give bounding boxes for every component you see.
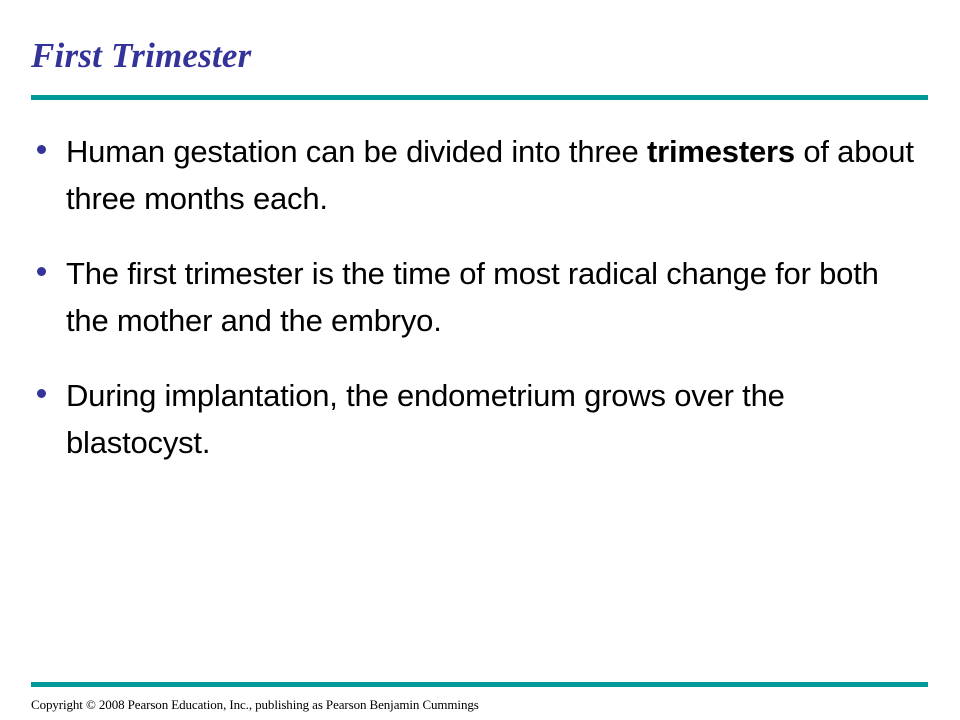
round-bullet-icon — [37, 145, 46, 154]
list-item: During implantation, the endometrium gro… — [31, 372, 926, 466]
list-item-text: The first trimester is the time of most … — [66, 250, 926, 344]
slide-canvas: First Trimester Human gestation can be d… — [0, 0, 960, 720]
list-item-text: Human gestation can be divided into thre… — [66, 128, 926, 222]
round-bullet-icon — [37, 267, 46, 276]
list-item-text-segment: Human gestation can be divided into thre… — [66, 134, 647, 169]
page-title: First Trimester — [31, 36, 921, 76]
round-bullet-icon — [37, 389, 46, 398]
bullet-list: Human gestation can be divided into thre… — [31, 128, 926, 466]
list-item-text: During implantation, the endometrium gro… — [66, 372, 926, 466]
copyright-notice: Copyright © 2008 Pearson Education, Inc.… — [31, 697, 479, 713]
list-item: Human gestation can be divided into thre… — [31, 128, 926, 222]
title-divider-rule — [31, 95, 928, 100]
list-item-emphasis: trimesters — [647, 134, 795, 169]
list-item: The first trimester is the time of most … — [31, 250, 926, 344]
footer-divider-rule — [31, 682, 928, 687]
